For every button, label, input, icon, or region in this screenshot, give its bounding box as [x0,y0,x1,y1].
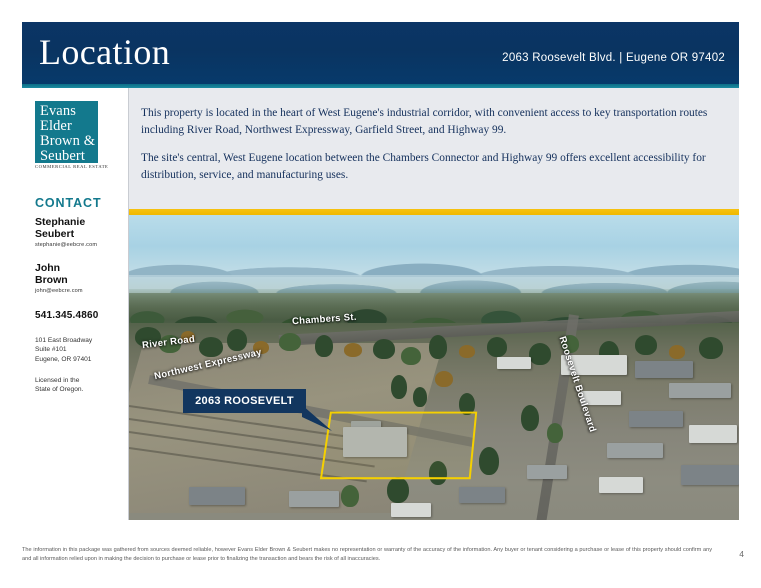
tree-cluster [199,337,223,357]
page-header: Location 2063 Roosevelt Blvd. | Eugene O… [22,22,739,84]
license-note-line-2: State of Oregon. [35,385,83,394]
contact-name-line-1: Stephanie [35,216,85,228]
document-page: Location 2063 Roosevelt Blvd. | Eugene O… [0,0,761,588]
tree-cluster [391,375,407,399]
aerial-map-photo: 2063 ROOSEVELT River Road Northwest Expr… [129,215,739,520]
industrial-building [681,465,739,485]
industrial-building [669,383,731,398]
industrial-building [629,411,683,427]
logo-line-1: Evans [40,104,98,119]
tree-cluster [699,337,723,359]
tree-cluster [669,345,685,359]
page-number: 4 [739,549,744,559]
contact-name-line-2: Seubert [35,228,85,240]
logo-tagline: COMMERCIAL REAL ESTATE [35,164,107,169]
tree-cluster [344,343,362,357]
page-title: Location [39,26,170,78]
logo-text-block: Evans Elder Brown & Seubert [35,101,98,164]
industrial-building [635,361,693,378]
office-address-line-2: Suite #101 [35,345,92,354]
description-panel: This property is located in the heart of… [129,88,739,209]
logo-line-3: Brown & [40,134,98,149]
office-address-line-3: Eugene, OR 97401 [35,355,92,364]
footer-disclaimer: The information in this package was gath… [22,546,712,564]
contact-sidebar: Evans Elder Brown & Seubert COMMERCIAL R… [22,88,128,520]
tree-cluster [487,337,507,357]
contact-person-stephanie: Stephanie Seubert [35,216,85,240]
license-note: Licensed in the State of Oregon. [35,376,83,395]
contact-email-stephanie[interactable]: stephanie@eebcre.com [35,242,97,248]
tree-cluster [459,345,475,358]
industrial-building [289,491,339,507]
industrial-building [607,443,663,458]
contact-name-line-2: Brown [35,274,68,286]
office-address-line-1: 101 East Broadway [35,336,92,345]
contact-email-john[interactable]: john@eebcre.com [35,288,83,294]
logo-line-2: Elder [40,119,98,134]
industrial-building [599,477,643,493]
license-note-line-1: Licensed in the [35,376,83,385]
industrial-building [527,465,567,479]
tree-cluster [227,329,247,351]
tree-cluster [413,387,427,407]
logo-line-4: Seubert [40,149,98,164]
tree-cluster [529,343,551,365]
contact-name-line-1: John [35,262,68,274]
tree-cluster [547,423,563,443]
tree-cluster [479,447,499,475]
contact-person-john: John Brown [35,262,68,286]
tree-cluster [435,371,453,387]
tree-cluster [341,485,359,507]
company-logo: Evans Elder Brown & Seubert [35,101,98,163]
industrial-building [689,425,737,443]
industrial-building [189,487,245,505]
tree-cluster [521,405,539,431]
industrial-building [391,503,431,517]
description-paragraph-1: This property is located in the heart of… [141,105,726,138]
contact-phone[interactable]: 541.345.4860 [35,310,99,321]
property-callout-label: 2063 ROOSEVELT [195,395,294,407]
contact-heading: CONTACT [35,196,101,210]
description-paragraph-2: The site's central, West Eugene location… [141,150,726,183]
parcel-outline [320,412,477,480]
property-callout: 2063 ROOSEVELT [183,389,306,413]
office-address: 101 East Broadway Suite #101 Eugene, OR … [35,336,92,364]
tree-cluster [315,335,333,357]
industrial-building [497,357,531,369]
tree-cluster [429,335,447,359]
tree-cluster [401,347,421,365]
tree-cluster [373,339,395,359]
property-address: 2063 Roosevelt Blvd. | Eugene OR 97402 [502,52,725,64]
tree-cluster [279,333,301,351]
tree-cluster [635,335,657,355]
tree-cluster [387,477,409,503]
industrial-building [459,487,505,503]
